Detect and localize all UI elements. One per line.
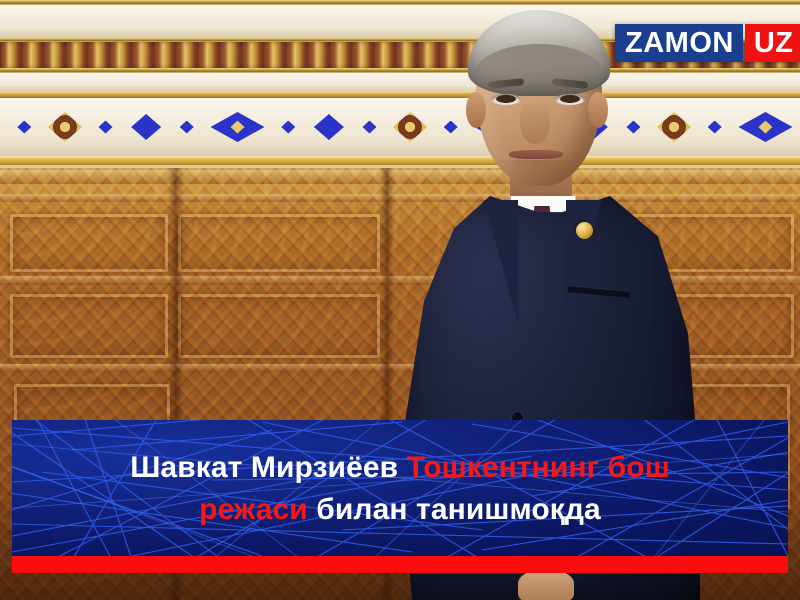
motif-diamond: [268, 110, 309, 144]
headline-line-1: Шавкат Мирзиёев Тошкентнинг бош: [130, 448, 670, 488]
motif-diamond: [349, 110, 390, 144]
news-card: ZAMON UZ: [0, 0, 800, 600]
headline-line1-red-segment: Тошкентнинг бош: [407, 451, 670, 484]
motif-diamond: [166, 110, 207, 144]
mouth: [509, 150, 563, 159]
ear-left: [466, 92, 486, 128]
lapel-right: [566, 200, 602, 326]
motif-diamond: [4, 110, 45, 144]
headline-line2-white-segment: билан танишмоқда: [308, 493, 601, 526]
motif-diamond-wide: [207, 110, 268, 144]
logo-primary-text: ZAMON: [615, 24, 743, 62]
hand: [518, 570, 574, 600]
chin-shadow: [496, 160, 580, 184]
site-logo[interactable]: ZAMON UZ: [615, 24, 800, 62]
motif-diamond: [309, 110, 350, 144]
headline-line-2: режаси билан танишмоқда: [199, 490, 601, 530]
motif-diamond: [126, 110, 167, 144]
headline-text-block: Шавкат Мирзиёев Тошкентнинг бош режаси б…: [12, 420, 788, 556]
accent-bar: [12, 556, 788, 573]
motif-diamond-wide: [735, 110, 796, 144]
motif-rosette: [45, 110, 86, 144]
motif-diamond: [85, 110, 126, 144]
logo-accent-text: UZ: [745, 24, 800, 62]
headline-line2-red-segment: режаси: [199, 493, 308, 526]
lapel-pin-icon: [576, 222, 593, 239]
ear-right: [588, 92, 608, 128]
eye-right: [555, 94, 585, 105]
eye-left: [491, 94, 521, 105]
headline-line1-white-segment: Шавкат Мирзиёев: [130, 451, 406, 484]
headline-banner: Шавкат Мирзиёев Тошкентнинг бош режаси б…: [12, 420, 788, 556]
lapel-left: [484, 200, 518, 324]
nose: [520, 100, 550, 144]
